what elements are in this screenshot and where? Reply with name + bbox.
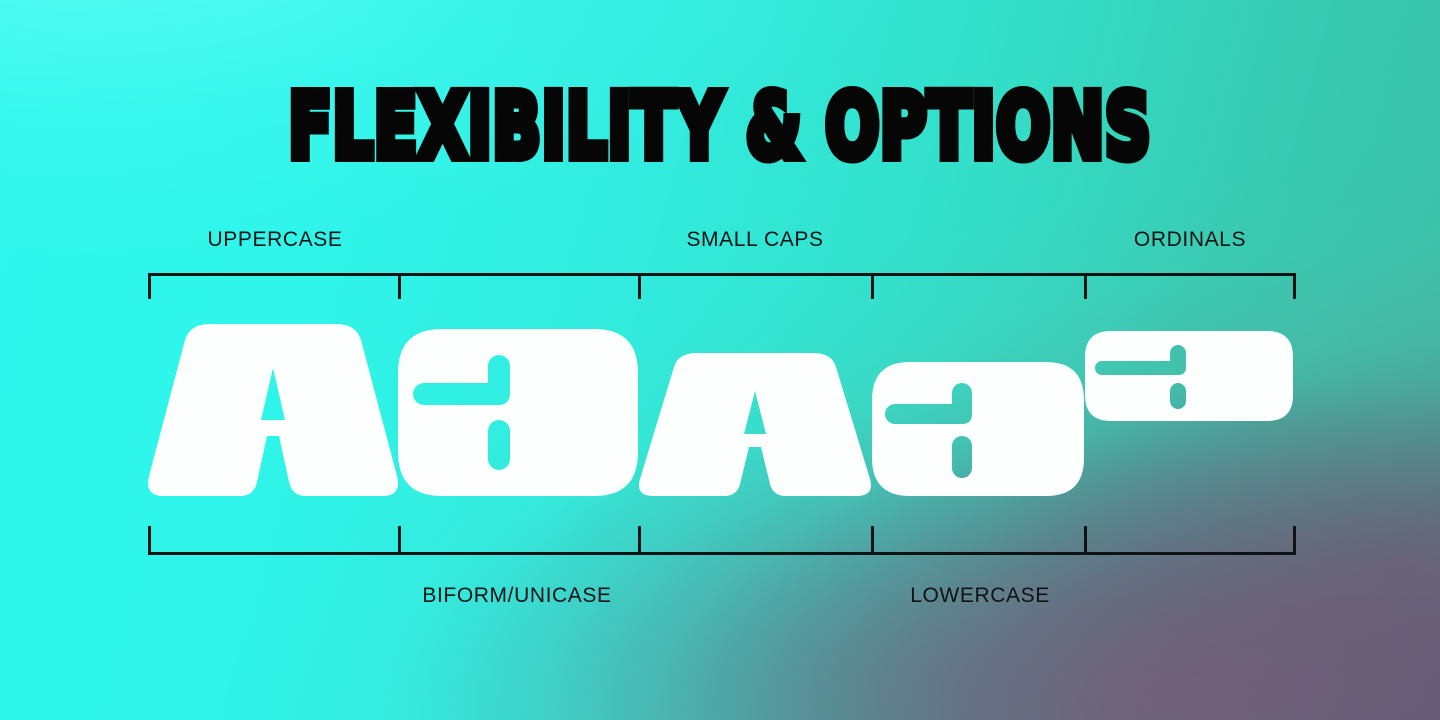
bottom-tick-3 <box>638 526 641 552</box>
top-tick-1 <box>148 273 151 299</box>
top-tick-6 <box>1293 273 1296 299</box>
bottom-tick-4 <box>871 526 874 552</box>
top-tick-2 <box>398 273 401 299</box>
top-tick-5 <box>1084 273 1087 299</box>
bottom-tick-5 <box>1084 526 1087 552</box>
bottom-tick-6 <box>1293 526 1296 552</box>
bottom-tick-1 <box>148 526 151 552</box>
page-title: FLEXIBILITY & OPTIONS <box>0 82 1440 171</box>
top-measure-rule <box>148 273 1296 276</box>
bottom-tick-2 <box>398 526 401 552</box>
top-tick-4 <box>871 273 874 299</box>
glyph-biform-a <box>398 329 638 496</box>
specimen-canvas: FLEXIBILITY & OPTIONS UPPERCASE SMALL CA… <box>0 0 1440 720</box>
bottom-measure-rule <box>148 552 1296 555</box>
top-tick-3 <box>638 273 641 299</box>
label-ordinals: ORDINALS <box>1134 228 1246 252</box>
glyph-ordinal-a <box>1085 331 1293 421</box>
glyph-smallcaps-a <box>639 353 871 496</box>
label-lowercase: LOWERCASE <box>910 584 1050 608</box>
glyph-lowercase-a <box>872 362 1084 496</box>
label-uppercase: UPPERCASE <box>208 228 343 252</box>
label-small-caps: SMALL CAPS <box>686 228 823 252</box>
label-biform-unicase: BIFORM/UNICASE <box>422 584 611 608</box>
glyph-uppercase-a <box>148 324 398 496</box>
